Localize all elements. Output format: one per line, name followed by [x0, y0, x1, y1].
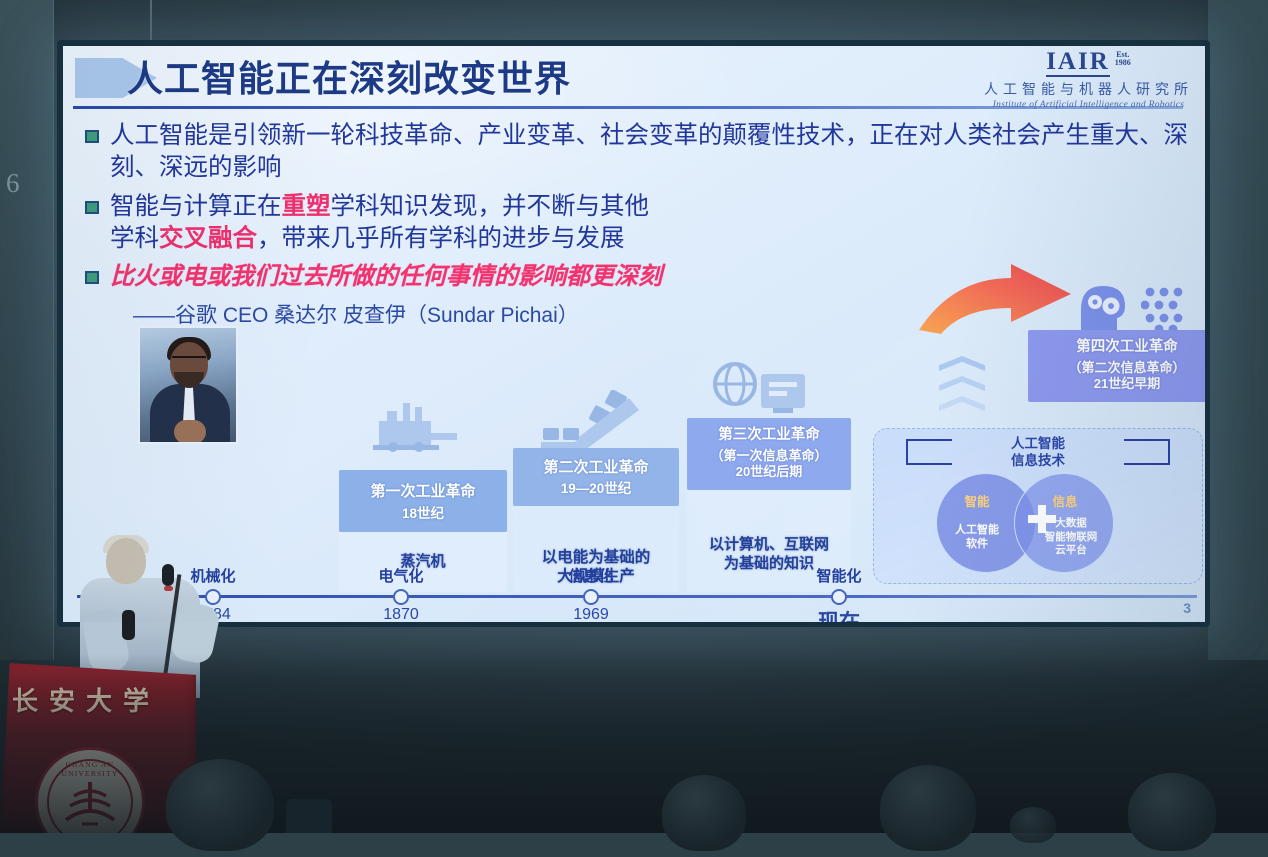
timeline-era-4: 智能化 [789, 565, 889, 586]
page-title: 人工智能正在深刻改变世界 [127, 50, 571, 102]
chair-back [286, 799, 332, 833]
revolution-3-title: 第三次工业革命 [687, 427, 851, 445]
ai-brain-head-icon [1073, 280, 1129, 332]
logo-chinese-name: 人工智能与机器人研究所 [984, 79, 1193, 99]
handheld-microphone-icon [122, 610, 135, 640]
logo-english-name: Institute of Artificial Intelligence and… [984, 100, 1193, 110]
bullet-marker-icon [85, 201, 99, 214]
bullet2-seg4: ，带来几乎所有学科的进步与发展 [257, 225, 625, 252]
revolution-box-2: 第二次工业革命 19—20世纪 [513, 448, 679, 506]
revolution-3-subtitle-line: （第一次信息革命） [687, 448, 851, 464]
revolution-3-period: 20世纪后期 [687, 464, 851, 480]
timeline-node-3 [583, 589, 599, 605]
audience-head [880, 765, 976, 851]
venn-left-body: 人工智能 软件 [940, 523, 1014, 552]
bullet2-seg2: 学科知识发现，并不断与其他 [331, 193, 650, 220]
revolution-1-title: 第一次工业革命 [339, 483, 507, 501]
audience-head [166, 759, 274, 851]
revolution-box-3: 第三次工业革命 （第一次信息革命） 20世纪后期 [687, 418, 851, 490]
bullet-item-2: 智能与计算正在重塑学科知识发现，并不断与其他学科交叉融合，带来几乎所有学科的进步… [85, 191, 1195, 255]
bullet-item-1: 人工智能是引领新一轮科技革命、产业变革、社会变革的颠覆性技术，正在对人类社会产生… [85, 120, 1195, 184]
timeline-axis [77, 595, 1197, 598]
audience-head [662, 775, 746, 851]
bullet2-highlight-1: 重塑 [282, 193, 331, 220]
sundar-pichai-photo [138, 326, 238, 444]
conveyor-belt-icon [541, 390, 643, 452]
revolution-1-period: 18世纪 [339, 506, 507, 522]
slide-header: 人工智能正在深刻改变世界 IAIREst.1986 人工智能与机器人研究所 In… [63, 46, 1205, 112]
timeline-year-3: 1969 [541, 606, 641, 622]
presentation-slide: 人工智能正在深刻改变世界 IAIREst.1986 人工智能与机器人研究所 In… [63, 46, 1205, 622]
revolution-4-period: 21世纪早期 [1028, 376, 1205, 392]
timeline-year-4: 现在 [783, 606, 895, 622]
bullet2-seg1: 智能与计算正在 [110, 193, 282, 220]
timeline-year-2: 1870 [351, 606, 451, 622]
revolution-2-period: 19—20世纪 [513, 481, 679, 497]
plus-icon [1028, 505, 1056, 533]
ai-information-tech-panel: 人工智能 信息技术 智能 人工智能 软件 信息 大数据 智能物联网 云平台 [873, 428, 1203, 584]
wall-panel-left [0, 0, 54, 660]
bullet-text-1: 人工智能是引领新一轮科技革命、产业变革、社会变革的颠覆性技术，正在对人类社会产生… [110, 120, 1195, 184]
wall-panel-right [1208, 0, 1268, 660]
industrial-revolution-infographic: 第一次工业革命 18世纪 蒸汽机 第二次工业革命 19—20世纪 以电能为基础的… [63, 282, 1205, 622]
timeline-node-2 [393, 589, 409, 605]
slide-page-number: 3 [1183, 600, 1191, 616]
upward-chevrons-icon [939, 356, 985, 416]
bullet2-seg3: 学科 [110, 225, 159, 252]
growth-arrow-icon [915, 264, 1075, 334]
bullet2-highlight-2: 交叉融合 [159, 225, 257, 252]
wall-marker-number: 6 [6, 168, 20, 199]
projection-screen: 人工智能正在深刻改变世界 IAIREst.1986 人工智能与机器人研究所 In… [57, 40, 1210, 627]
network-dots-icon [1141, 286, 1187, 332]
steam-engine-icon [373, 395, 469, 453]
ai-panel-title-line2: 信息技术 [874, 453, 1202, 470]
seal-text-chinese: 长安大学 [38, 835, 142, 846]
revolution-4-subtitle-line: （第二次信息革命） [1028, 360, 1205, 376]
venn-diagram: 智能 人工智能 软件 信息 大数据 智能物联网 云平台 [910, 473, 1170, 573]
revolution-2-title: 第二次工业革命 [513, 459, 679, 477]
timeline-node-4 [831, 589, 847, 605]
logo-est-line2: 1986 [1115, 58, 1131, 67]
bullet-text-2: 智能与计算正在重塑学科知识发现，并不断与其他学科交叉融合，带来几乎所有学科的进步… [110, 191, 649, 255]
logo-acronym: IAIR [1046, 49, 1110, 77]
ai-panel-title: 人工智能 信息技术 [874, 436, 1202, 470]
revolution-4-title: 第四次工业革命 [1028, 339, 1205, 357]
venn-left-label: 智能 [946, 491, 1008, 510]
revolution-box-1: 第一次工业革命 18世纪 [339, 470, 507, 532]
audience-head [1010, 807, 1056, 843]
ai-panel-title-line1: 人工智能 [874, 436, 1202, 453]
audience-head [1128, 773, 1216, 851]
globe-computer-icon [711, 360, 811, 424]
timeline-era-3: 信息化 [541, 565, 641, 586]
stand-microphone-icon [162, 564, 174, 586]
revolution-box-4: 第四次工业革命 （第二次信息革命） 21世纪早期 [1028, 330, 1205, 402]
timeline-era-2: 电气化 [351, 565, 451, 586]
iair-logo: IAIREst.1986 人工智能与机器人研究所 Institute of Ar… [984, 49, 1193, 110]
lecture-hall-room: 6 人工智能正在深刻改变世界 IAIREst.1986 人工智能与机器人研究所 … [0, 0, 1268, 833]
bullet-marker-icon [85, 130, 99, 143]
